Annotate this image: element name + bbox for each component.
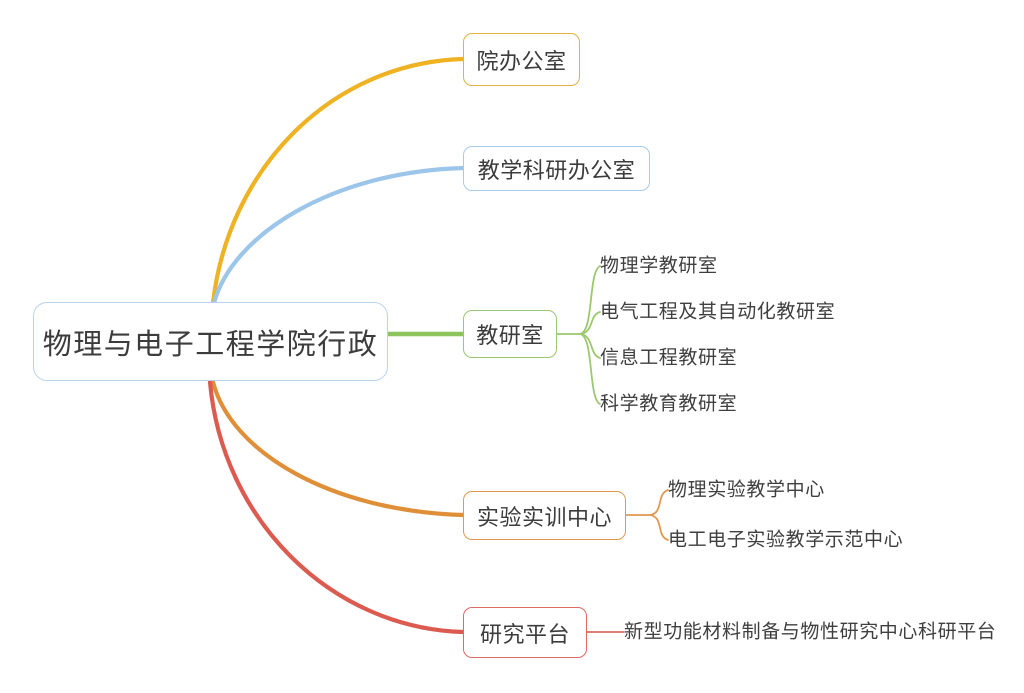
branch-node-teaching-research-office-label: 教学科研办公室 <box>478 153 636 185</box>
leaf-physics-experiment-center[interactable]: 物理实验教学中心 <box>668 481 825 500</box>
leaf-science-education-department-label: 科学教育教研室 <box>600 394 737 415</box>
leaf-science-education-department[interactable]: 科学教育教研室 <box>600 395 737 414</box>
leaf-physics-department-label: 物理学教研室 <box>600 256 718 277</box>
connector-lab-child-2 <box>650 515 668 540</box>
connector-department-child-1 <box>580 266 600 334</box>
leaf-information-engineering-department-label: 信息工程教研室 <box>600 348 737 369</box>
connector-root-to-platform <box>210 382 463 632</box>
connector-department-child-3 <box>580 334 600 358</box>
leaf-physics-experiment-center-label: 物理实验教学中心 <box>668 480 825 501</box>
branch-node-teaching-research-office[interactable]: 教学科研办公室 <box>463 146 650 191</box>
branch-node-office[interactable]: 院办公室 <box>463 33 580 86</box>
connector-department-child-2 <box>580 312 600 334</box>
branch-node-lab-training-center-label: 实验实训中心 <box>477 500 612 532</box>
leaf-new-functional-materials-platform[interactable]: 新型功能材料制备与物性研究中心科研平台 <box>624 623 996 642</box>
leaf-electrical-electronic-demo-center[interactable]: 电工电子实验教学示范中心 <box>668 531 903 550</box>
connector-department-child-4 <box>580 334 600 404</box>
root-node-label: 物理与电子工程学院行政 <box>43 321 379 363</box>
mindmap-canvas: 物理与电子工程学院行政 院办公室 教学科研办公室 教研室 物理学教研室 电气工程… <box>0 0 1024 693</box>
root-node[interactable]: 物理与电子工程学院行政 <box>33 302 388 381</box>
leaf-electrical-engineering-department-label: 电气工程及其自动化教研室 <box>600 302 835 323</box>
connector-root-to-lab <box>213 382 463 515</box>
leaf-electrical-electronic-demo-center-label: 电工电子实验教学示范中心 <box>668 530 903 551</box>
branch-node-teaching-department-label: 教研室 <box>476 318 544 350</box>
branch-node-research-platform[interactable]: 研究平台 <box>463 607 587 658</box>
branch-node-lab-training-center[interactable]: 实验实训中心 <box>463 491 626 540</box>
connector-root-to-teaching <box>214 168 463 303</box>
branch-node-research-platform-label: 研究平台 <box>480 617 570 649</box>
leaf-physics-department[interactable]: 物理学教研室 <box>600 257 718 276</box>
leaf-new-functional-materials-platform-label: 新型功能材料制备与物性研究中心科研平台 <box>624 622 996 643</box>
leaf-electrical-engineering-department[interactable]: 电气工程及其自动化教研室 <box>600 303 835 322</box>
branch-node-teaching-department[interactable]: 教研室 <box>463 310 557 358</box>
connector-root-to-office <box>213 59 463 303</box>
connector-lab-child-1 <box>650 490 668 515</box>
branch-node-office-label: 院办公室 <box>476 44 566 76</box>
leaf-information-engineering-department[interactable]: 信息工程教研室 <box>600 349 737 368</box>
